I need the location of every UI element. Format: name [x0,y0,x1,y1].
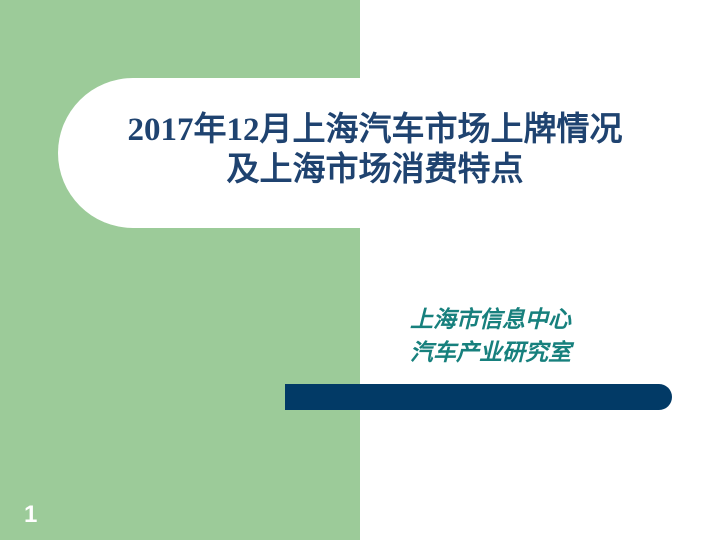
slide-subtitle-line-1: 上海市信息中心 [410,303,690,336]
accent-bar [285,384,672,410]
page-number: 1 [24,503,37,527]
slide-subtitle: 上海市信息中心 汽车产业研究室 [410,303,690,370]
slide-title: 2017年12月上海汽车市场上牌情况 及上海市场消费特点 [95,110,655,191]
slide-title-line-1: 2017年12月上海汽车市场上牌情况 [95,110,655,150]
slide-title-line-2: 及上海市场消费特点 [95,150,655,190]
slide-canvas: 2017年12月上海汽车市场上牌情况 及上海市场消费特点 上海市信息中心 汽车产… [0,0,720,540]
slide-subtitle-line-2: 汽车产业研究室 [410,336,690,369]
